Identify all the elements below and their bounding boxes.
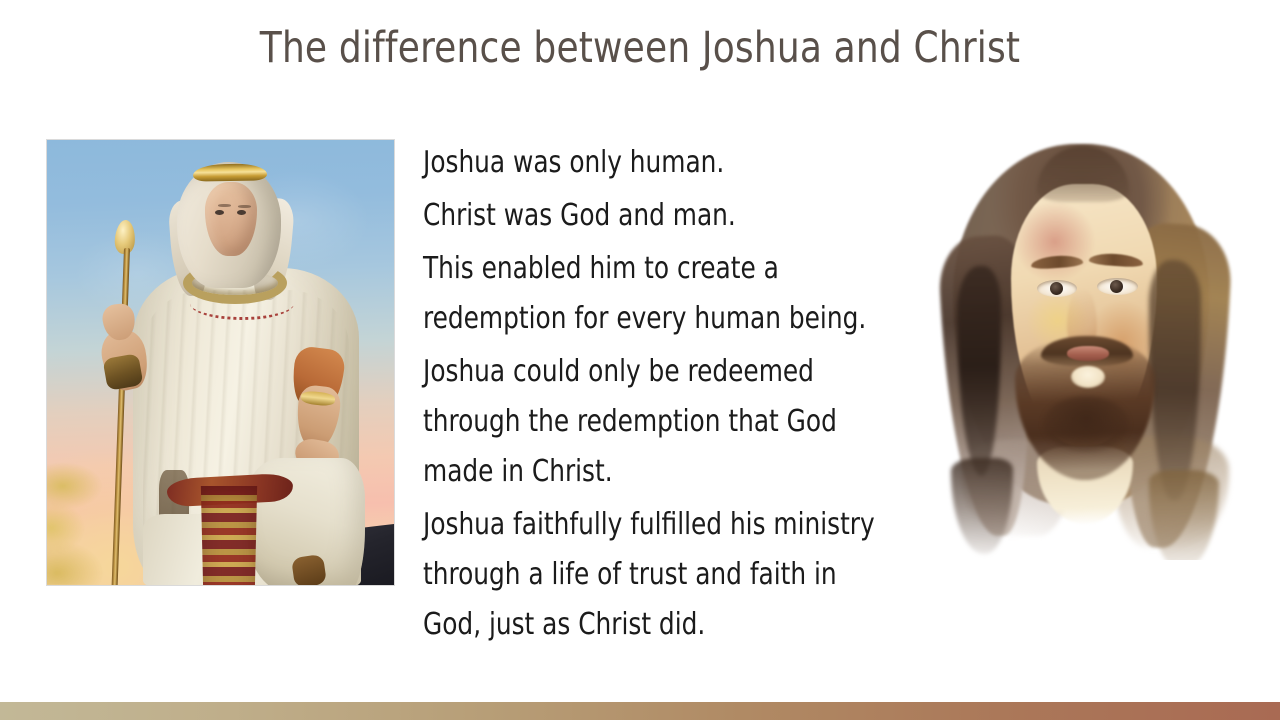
page-title: The difference between Joshua and Christ <box>45 20 1235 76</box>
patterned-sash <box>197 486 261 585</box>
body-paragraph-2: Christ was God and man. <box>423 191 898 241</box>
gold-staff <box>112 248 130 585</box>
body-text-block: Joshua was only human. Christ was God an… <box>423 138 898 652</box>
chin-highlight <box>1071 366 1105 388</box>
beard-shadow <box>1043 396 1129 452</box>
hair-right-tip <box>1149 470 1219 560</box>
body-paragraph-5: Joshua faithfully fulfilled his ministry… <box>423 500 898 650</box>
left-eye <box>1037 280 1077 297</box>
hair-left-tip <box>951 458 1013 554</box>
joshua-painting-image <box>47 140 394 585</box>
sandal <box>291 554 327 585</box>
body-paragraph-3: This enabled him to create a redemption … <box>423 244 898 344</box>
christ-watercolor-image <box>925 140 1237 560</box>
body-paragraph-1: Joshua was only human. <box>423 138 898 188</box>
right-eye <box>1097 278 1138 295</box>
slide: The difference between Joshua and Christ <box>0 0 1280 720</box>
body-paragraph-4: Joshua could only be redeemed through th… <box>423 347 898 497</box>
lips <box>1067 346 1109 361</box>
gold-crown-band <box>193 163 267 181</box>
joshua-figure <box>47 140 394 585</box>
bottom-accent-bar <box>0 702 1280 720</box>
